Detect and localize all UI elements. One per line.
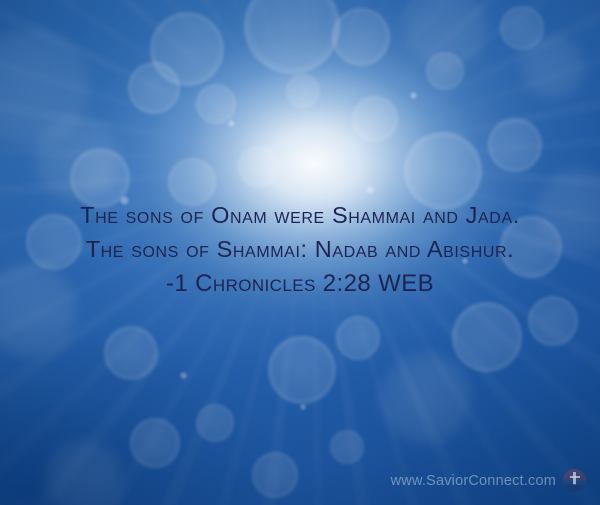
verse-image-canvas: The sons of Onam were Shammai and Jada. … <box>0 0 600 505</box>
cross-horizontal-bar <box>570 476 580 478</box>
cross-on-hill-circle-icon[interactable] <box>563 469 586 492</box>
watermark[interactable]: www.SaviorConnect.com <box>391 469 586 492</box>
watermark-url[interactable]: www.SaviorConnect.com <box>391 473 556 489</box>
hill-shape <box>563 484 586 492</box>
background-center-glow <box>0 0 600 505</box>
